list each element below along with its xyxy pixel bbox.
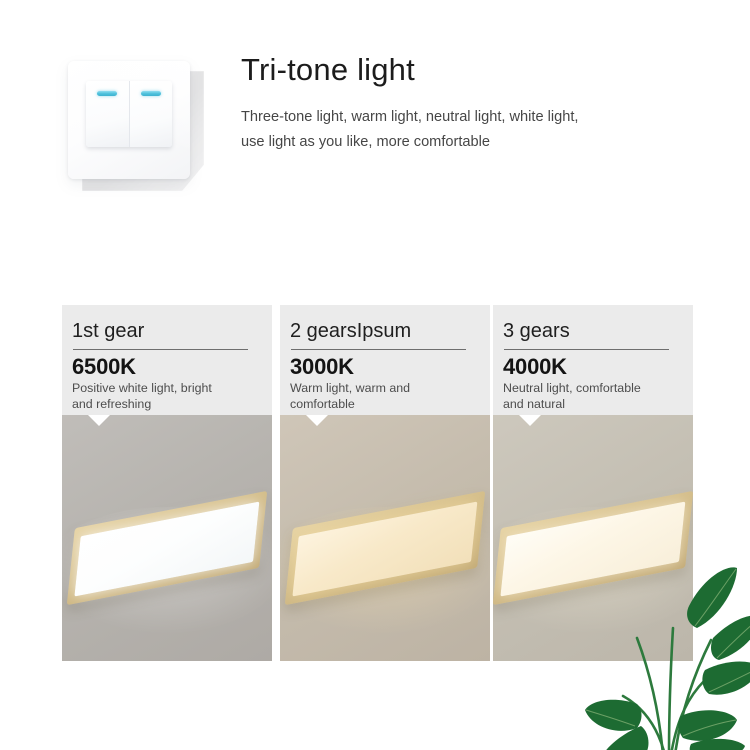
gear-label: 3 gears bbox=[503, 319, 683, 344]
gear-panel-header: 1st gear 6500K Positive white light, bri… bbox=[62, 305, 272, 415]
desc-line-1: Neutral light, comfortable bbox=[503, 381, 641, 395]
product-feature-banner: Tri-tone light Three-tone light, warm li… bbox=[0, 0, 750, 750]
kelvin-value: 6500K bbox=[72, 354, 262, 379]
divider bbox=[291, 349, 466, 350]
gear-panel-header: 3 gears 4000K Neutral light, comfortable… bbox=[493, 305, 693, 415]
gear-description: Positive white light, bright and refresh… bbox=[72, 381, 262, 412]
kelvin-value: 4000K bbox=[503, 354, 683, 379]
gear-label: 1st gear bbox=[72, 319, 262, 344]
gear-panel-header: 2 gearsIpsum 3000K Warm light, warm and … bbox=[280, 305, 490, 415]
gear-panel: 1st gear 6500K Positive white light, bri… bbox=[62, 305, 272, 661]
gear-panel: 2 gearsIpsum 3000K Warm light, warm and … bbox=[280, 305, 490, 661]
kelvin-value: 3000K bbox=[290, 354, 480, 379]
desc-line-1: Warm light, warm and bbox=[290, 381, 410, 395]
ceiling-light-photo bbox=[280, 415, 490, 661]
gear-description: Warm light, warm and comfortable bbox=[290, 381, 480, 412]
desc-line-2: and natural bbox=[503, 397, 565, 411]
ceiling-light-photo bbox=[62, 415, 272, 661]
gear-label: 2 gearsIpsum bbox=[290, 319, 480, 344]
gear-description: Neutral light, comfortable and natural bbox=[503, 381, 683, 412]
pointer-notch-icon bbox=[88, 415, 110, 426]
pointer-notch-icon bbox=[519, 415, 541, 426]
divider bbox=[73, 349, 248, 350]
desc-line-1: Positive white light, bright bbox=[72, 381, 212, 395]
bird-of-paradise-plant bbox=[585, 520, 750, 750]
divider bbox=[504, 349, 669, 350]
desc-line-2: and refreshing bbox=[72, 397, 151, 411]
pointer-notch-icon bbox=[306, 415, 328, 426]
desc-line-2: comfortable bbox=[290, 397, 355, 411]
